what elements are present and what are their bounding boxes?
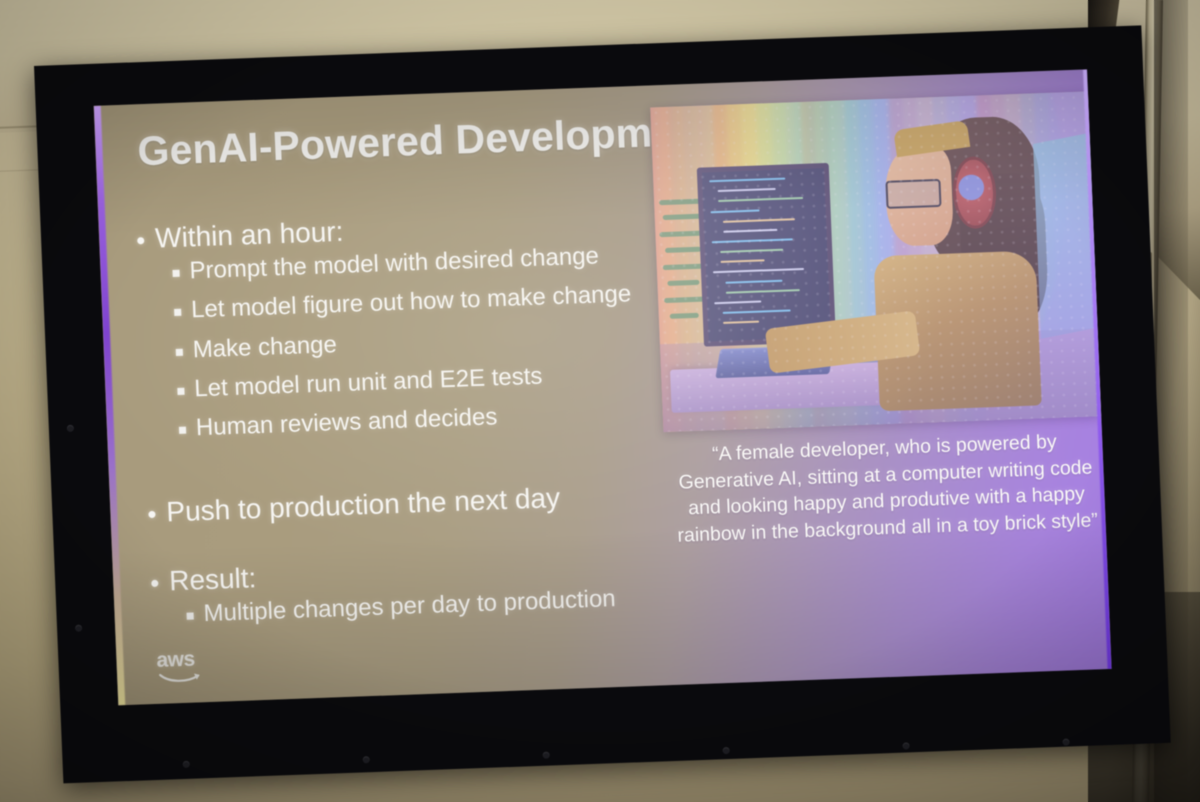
aws-logo: aws — [156, 650, 216, 690]
illustration-monitor — [697, 163, 837, 347]
illustration-developer-figure — [856, 106, 1052, 411]
bullet-dot-icon — [137, 237, 144, 244]
bullet-text: Human reviews and decides — [195, 404, 497, 443]
bullet-square-icon — [179, 427, 186, 434]
bullet-square-icon — [187, 612, 194, 619]
bullet-text: Make change — [192, 331, 337, 365]
projected-slide-photo: GenAI-Powered Development Cycle Within a… — [0, 0, 1200, 802]
bullet-text: Let model run unit and E2E tests — [194, 363, 543, 404]
bullet-square-icon — [176, 348, 183, 355]
bullet-dot-icon — [151, 579, 158, 586]
bullet-text: Result: — [169, 561, 257, 597]
bullet-square-icon — [174, 309, 181, 316]
bullet-level2: Make change — [175, 319, 662, 365]
bullet-level2: Human reviews and decides — [178, 397, 665, 443]
slide-bullet-list: Within an hour: Prompt the model with de… — [136, 203, 673, 641]
bullet-level2: Let model figure out how to make change — [174, 280, 661, 326]
slide-illustration — [650, 91, 1101, 432]
bullet-text: Within an hour: — [154, 215, 344, 255]
bullet-level2: Let model run unit and E2E tests — [177, 358, 664, 404]
projection-screen: GenAI-Powered Development Cycle Within a… — [34, 25, 1171, 783]
bullet-text: Let model figure out how to make change — [191, 281, 632, 325]
bullet-dot-icon — [148, 510, 155, 517]
slide-surface: GenAI-Powered Development Cycle Within a… — [94, 69, 1112, 705]
aws-smile-icon — [159, 670, 204, 685]
illustration-glasses — [885, 179, 942, 209]
bullet-square-icon — [172, 270, 179, 277]
bullet-square-icon — [177, 388, 184, 395]
aws-wordmark: aws — [156, 650, 215, 671]
slide-image-caption: “A female developer, who is powered by G… — [664, 427, 1108, 549]
